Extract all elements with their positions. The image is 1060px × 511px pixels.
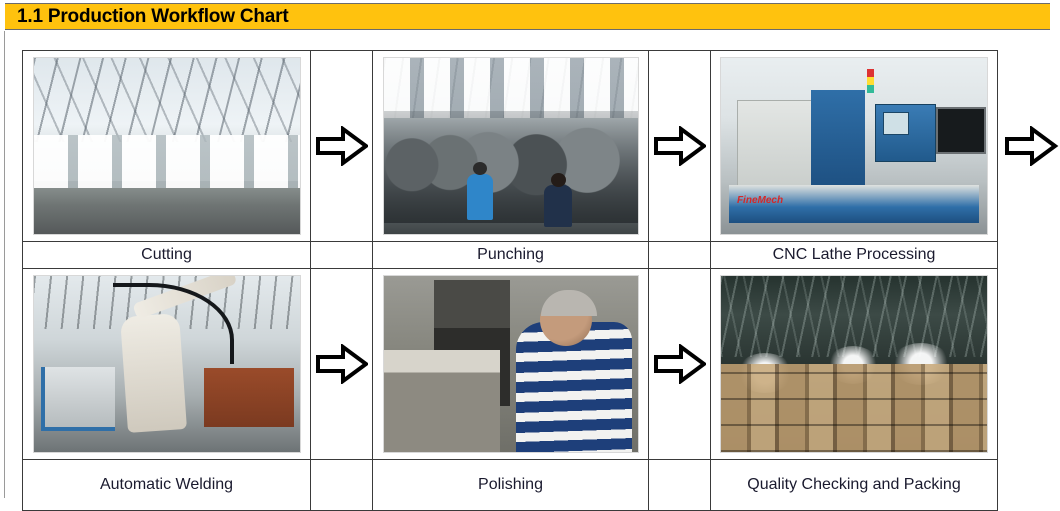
photo-worker-polishing-part	[383, 275, 639, 453]
photo-detail-machine-column	[811, 90, 864, 192]
caption-spacer-2	[649, 242, 711, 269]
photo-detail-worker-blue	[467, 174, 493, 220]
table-row-captions-2: Automatic Welding Polishing Quality Chec…	[23, 460, 998, 511]
photo-cnc-lathe-machine: FineMech	[720, 57, 988, 235]
step-3-photo-cell: FineMech	[711, 51, 998, 242]
photo-detail-presses	[384, 111, 638, 224]
photo-factory-cutting-workshop	[33, 57, 301, 235]
photo-detail-floor	[34, 181, 300, 234]
right-arrow-icon	[649, 126, 710, 166]
step-5-photo-cell	[373, 269, 649, 460]
photo-detail-carton-stacks	[721, 364, 987, 452]
step-6-photo-cell	[711, 269, 998, 460]
photo-punching-press-machines	[383, 57, 639, 235]
production-workflow-table: FineMech Cutting Punching CNC Lathe Proc…	[22, 50, 998, 511]
step-4-photo-cell	[23, 269, 311, 460]
photo-detail-monitor	[936, 107, 985, 153]
caption-spacer-3	[311, 460, 373, 511]
page-title: 1.1 Production Workflow Chart	[5, 6, 288, 28]
caption-spacer-4	[649, 460, 711, 511]
right-arrow-icon	[649, 344, 710, 384]
photo-detail-welder-cart	[41, 367, 114, 431]
photo-warehouse-packed-cartons	[720, 275, 988, 453]
photo-detail-signal-tower	[867, 69, 874, 93]
step-4-caption: Automatic Welding	[23, 460, 311, 511]
photo-detail-brand-logo: FineMech	[737, 195, 783, 206]
arrow-cell-1	[311, 51, 373, 242]
right-arrow-icon	[311, 344, 372, 384]
photo-detail-torch-cable	[113, 283, 234, 364]
photo-detail-stone-table	[384, 350, 501, 452]
arrow-cell-4	[649, 269, 711, 460]
section-header-bar: 1.1 Production Workflow Chart	[5, 3, 1050, 30]
photo-detail-worker-dark	[544, 185, 572, 227]
step-2-photo-cell	[373, 51, 649, 242]
step-1-caption: Cutting	[23, 242, 311, 269]
photo-welding-robot-arm	[33, 275, 301, 453]
right-arrow-icon	[311, 126, 372, 166]
photo-detail-workbench	[204, 368, 294, 428]
step-3-caption: CNC Lathe Processing	[711, 242, 998, 269]
caption-spacer-1	[311, 242, 373, 269]
table-row-captions-1: Cutting Punching CNC Lathe Processing	[23, 242, 998, 269]
step-1-photo-cell	[23, 51, 311, 242]
page-left-rule	[4, 31, 5, 498]
table-row-photos-2	[23, 269, 998, 460]
photo-detail-control-panel	[875, 104, 936, 162]
arrow-cell-3	[311, 269, 373, 460]
table-row-photos-1: FineMech	[23, 51, 998, 242]
arrow-cell-2	[649, 51, 711, 242]
photo-detail-worker-hair	[541, 290, 597, 316]
right-arrow-icon-overflow	[1000, 126, 1060, 172]
step-5-caption: Polishing	[373, 460, 649, 511]
step-6-caption: Quality Checking and Packing	[711, 460, 998, 511]
step-2-caption: Punching	[373, 242, 649, 269]
